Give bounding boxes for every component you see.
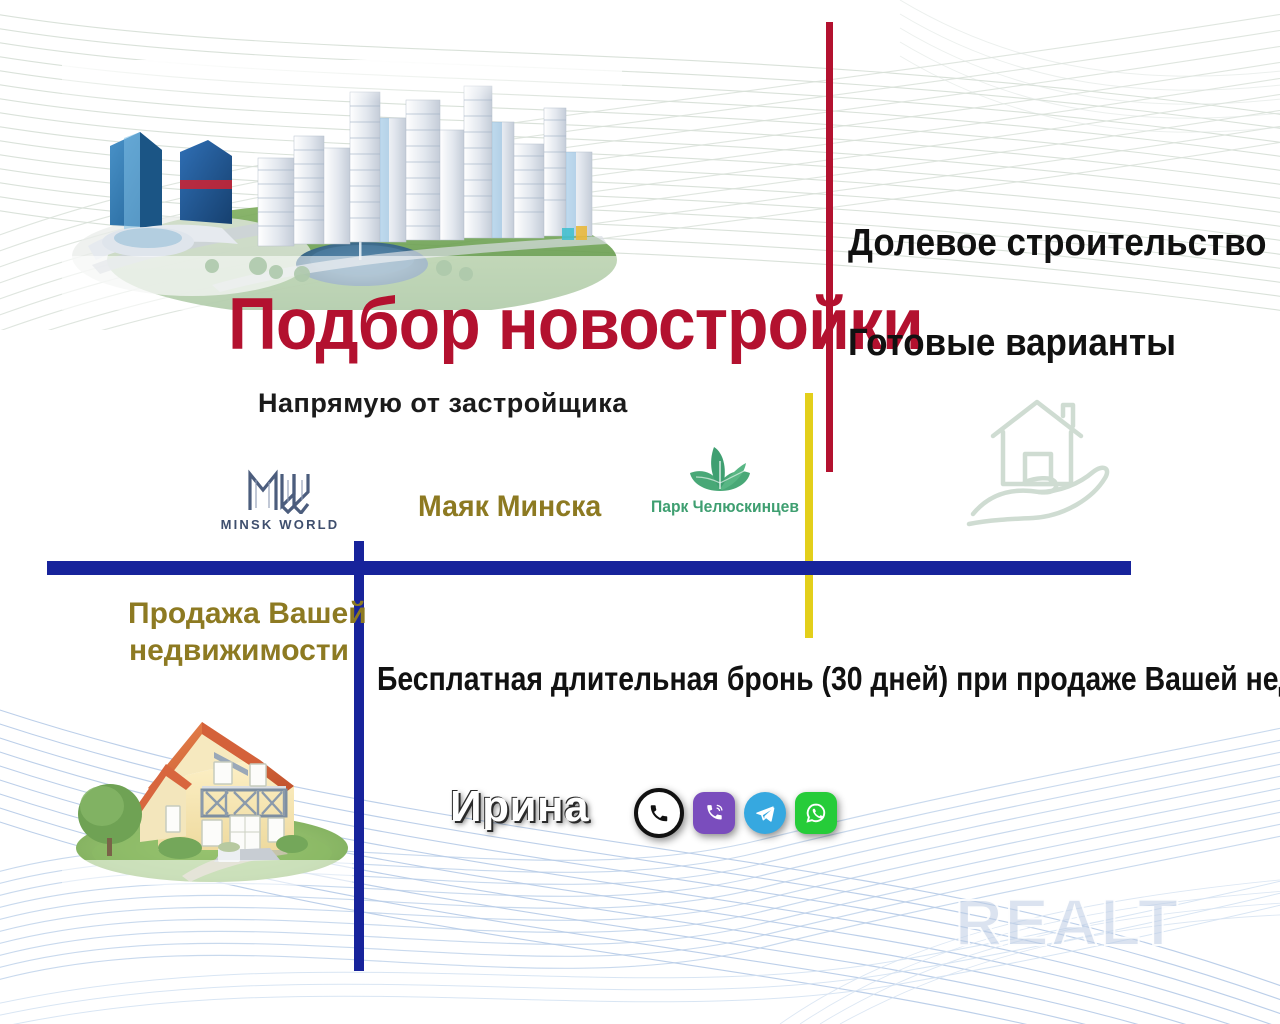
offer-line-ready-options: Готовые варианты xyxy=(848,322,1176,365)
divider-red-vertical xyxy=(826,22,833,472)
whatsapp-glyph xyxy=(804,801,828,825)
developer-logo-mayak-minska: Маяк Минска xyxy=(418,490,601,524)
agent-name: Ирина xyxy=(450,782,589,832)
sell-your-property-block: Продажа Вашей недвижимости xyxy=(128,596,350,669)
divider-yellow-vertical xyxy=(805,393,813,638)
cottage-house-photo xyxy=(62,690,352,885)
advertisement-poster: Подбор новостройки Напрямую от застройщи… xyxy=(0,0,1280,1024)
telegram-glyph xyxy=(753,801,777,825)
page-title: Подбор новостройки xyxy=(228,288,923,361)
developer-logo-minsk-world: MINSK WORLD xyxy=(215,468,345,532)
developer-name-park-chelyuskintsev: Парк Челюскинцев xyxy=(651,497,789,517)
viber-icon[interactable] xyxy=(693,792,735,834)
developer-name-minsk-world: MINSK WORLD xyxy=(215,517,345,532)
mw-monogram-icon xyxy=(244,468,316,514)
city-skyline-photo xyxy=(62,60,622,310)
viber-glyph xyxy=(702,801,726,825)
developer-logo-park-chelyuskintsev: Парк Челюскинцев xyxy=(645,443,795,517)
telegram-icon[interactable] xyxy=(744,792,786,834)
free-booking-banner: Бесплатная длительная бронь (30 дней) пр… xyxy=(377,660,1280,698)
phone-glyph xyxy=(648,802,670,824)
page-subtitle: Напрямую от застройщика xyxy=(258,388,628,419)
phone-icon[interactable] xyxy=(634,788,684,838)
offer-line-shared-construction: Долевое строительство xyxy=(848,222,1267,265)
whatsapp-icon[interactable] xyxy=(795,792,837,834)
house-in-hand-icon xyxy=(955,392,1120,527)
sell-line-1: Продажа Вашей xyxy=(128,596,350,633)
sell-line-2: недвижимости xyxy=(128,633,350,670)
contact-channels xyxy=(634,788,837,838)
divider-blue-horizontal xyxy=(47,561,1131,575)
realt-watermark: REALT xyxy=(955,884,1180,960)
leaf-icon xyxy=(686,443,754,495)
